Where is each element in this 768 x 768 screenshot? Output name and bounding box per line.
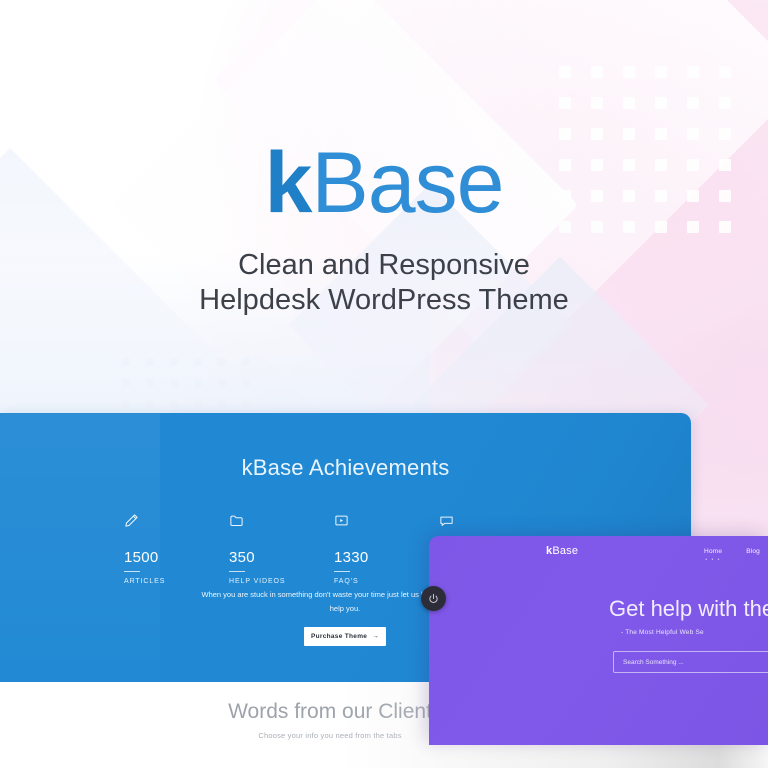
power-icon[interactable]: [421, 586, 446, 611]
pencil-icon: [124, 513, 229, 535]
hero-tagline-line1: Clean and Responsive: [238, 249, 530, 281]
stat-label: ARTICLES: [124, 578, 229, 585]
stat-divider: [229, 571, 245, 572]
arrow-right-icon: →: [372, 633, 379, 640]
achievements-title: kBase Achievements: [0, 455, 691, 481]
hero-section: kBase Clean and Responsive Helpdesk Word…: [0, 140, 768, 319]
stat-label: FAQ'S: [334, 578, 439, 585]
helpdesk-preview-card: kBase Home • • • Blog Get help with the …: [429, 536, 768, 745]
nav-item-home-label: Home: [704, 548, 722, 555]
stat-faqs: 1330 FAQ'S: [334, 513, 439, 585]
purple-subheadline: - The Most Helpful Web Se: [621, 629, 704, 636]
stat-value: 350: [229, 549, 334, 566]
stat-divider: [334, 571, 350, 572]
stat-help-videos: 350 HELP VIDEOS: [229, 513, 334, 585]
stat-divider: [124, 571, 140, 572]
search-input[interactable]: [613, 651, 768, 673]
purple-headline: Get help with the Adva: [609, 596, 768, 622]
brand-logo: kBase: [0, 140, 768, 226]
purple-brand-logo: kBase: [546, 545, 578, 557]
brand-logo-k: k: [265, 135, 312, 231]
hero-tagline: Clean and Responsive Helpdesk WordPress …: [0, 248, 768, 319]
nav-item-blog-label: Blog: [746, 548, 760, 555]
stat-value: 1500: [124, 549, 229, 566]
purchase-theme-button[interactable]: Purchase Theme →: [304, 627, 386, 646]
stat-articles: 1500 ARTICLES: [124, 513, 229, 585]
purple-headline-light: Get help with the: [609, 596, 768, 621]
folder-icon: [229, 513, 334, 535]
purchase-theme-label: Purchase Theme: [311, 633, 367, 640]
video-icon: [334, 513, 439, 535]
purple-brand-logo-base: Base: [552, 545, 578, 557]
nav-item-home[interactable]: Home • • •: [704, 548, 722, 563]
promo-banner: kBase Clean and Responsive Helpdesk Word…: [0, 0, 768, 768]
comment-icon: [439, 513, 544, 535]
stat-label: HELP VIDEOS: [229, 578, 334, 585]
stat-value: 1330: [334, 549, 439, 566]
brand-logo-base: Base: [311, 135, 503, 231]
hero-tagline-line2: Helpdesk WordPress Theme: [0, 283, 768, 318]
purple-nav: Home • • • Blog: [704, 548, 760, 563]
nav-item-blog[interactable]: Blog: [746, 548, 760, 555]
nav-item-home-dots: • • •: [704, 557, 722, 563]
